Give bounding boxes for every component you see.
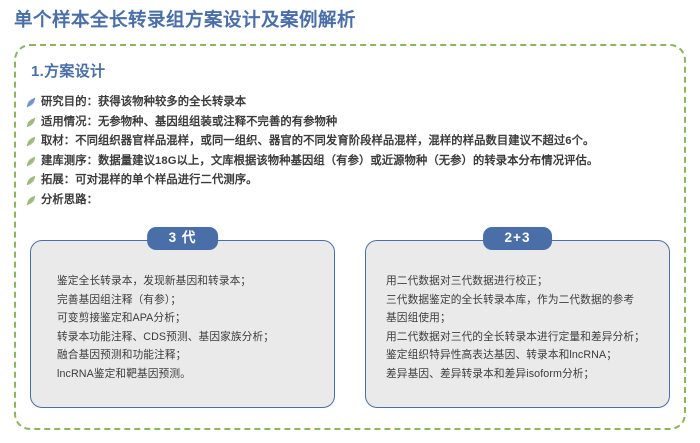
bullet-list: 研究目的：获得该物种较多的全长转录本 适用情况：无参物种、基因组组装或注释不完善… [25,94,670,211]
panel-line: 鉴定组织特异性高表达基因、转录本和lncRNA； [386,346,657,365]
panel-line: 基因组使用； [386,309,657,328]
panel-content-list: 用二代数据对三代数据进行校正； 三代数据鉴定的全长转录本库，作为二代数据的参考 … [366,272,669,384]
panel-badge-3dai: 3 代 [147,227,219,250]
panel-second-plus-third-generation: 2+3 用二代数据对三代数据进行校正； 三代数据鉴定的全长转录本库，作为二代数据… [365,240,670,408]
leaf-bullet-icon [25,155,38,168]
panel-line: 完善基因组注释（有参）； [57,291,322,310]
list-item: 取材：不同组织器官样品混样，或同一组织、器官的不同发育阶段样品混样，混样的样品数… [25,133,670,150]
list-item-text: 分析思路： [41,192,670,209]
panel-line: 差异基因、差异转录本和差异isoform分析； [386,365,657,384]
panel-line: 可变剪接鉴定和APA分析； [57,309,322,328]
list-item: 分析思路： [25,192,670,209]
leaf-bullet-icon [25,135,38,148]
page-title: 单个样本全长转录组方案设计及案例解析 [14,6,356,32]
panel-line: 用二代数据对三代的全长转录本进行定量和差异分析； [386,328,657,347]
panel-badge-2plus3: 2+3 [483,227,553,250]
strategy-panels: 3 代 鉴定全长转录本，发现新基因和转录本； 完善基因组注释（有参）； 可变剪接… [30,240,670,410]
panel-line: 用二代数据对三代数据进行校正； [386,272,657,291]
panel-line: 三代数据鉴定的全长转录本库，作为二代数据的参考 [386,291,657,310]
panel-line: 转录本功能注释、CDS预测、基因家族分析； [57,328,322,347]
list-item-text: 适用情况：无参物种、基因组组装或注释不完善的有参物种 [41,114,670,131]
list-item: 建库测序：数据量建议18G以上，文库根据该物种基因组（有参）或近源物种（无参）的… [25,153,670,170]
list-item: 拓展：可对混样的单个样品进行二代测序。 [25,172,670,189]
list-item: 适用情况：无参物种、基因组组装或注释不完善的有参物种 [25,114,670,131]
panel-line: 鉴定全长转录本，发现新基因和转录本； [57,272,322,291]
leaf-bullet-icon [25,174,38,187]
leaf-bullet-icon [25,194,38,207]
section-heading: 1.方案设计 [27,60,113,81]
panel-line: lncRNA鉴定和靶基因预测。 [57,365,322,384]
list-item-text: 建库测序：数据量建议18G以上，文库根据该物种基因组（有参）或近源物种（无参）的… [41,153,670,170]
slide-canvas: 单个样本全长转录组方案设计及案例解析 1.方案设计 研究目的：获得该物种较多的全… [0,0,700,443]
list-item-text: 研究目的：获得该物种较多的全长转录本 [41,94,670,111]
list-item: 研究目的：获得该物种较多的全长转录本 [25,94,670,111]
leaf-bullet-icon [25,116,38,129]
panel-line: 融合基因预测和功能注释； [57,346,322,365]
panel-content-list: 鉴定全长转录本，发现新基因和转录本； 完善基因组注释（有参）； 可变剪接鉴定和A… [31,272,334,384]
list-item-text: 拓展：可对混样的单个样品进行二代测序。 [41,172,670,189]
panel-third-generation: 3 代 鉴定全长转录本，发现新基因和转录本； 完善基因组注释（有参）； 可变剪接… [30,240,335,408]
list-item-text: 取材：不同组织器官样品混样，或同一组织、器官的不同发育阶段样品混样，混样的样品数… [41,133,670,150]
leaf-bullet-icon [25,96,38,109]
